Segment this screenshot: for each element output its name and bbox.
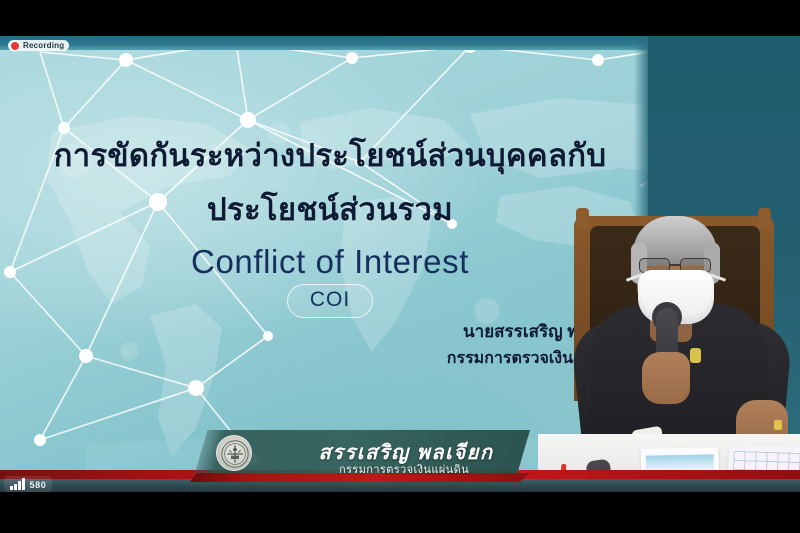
signal-bars-icon — [10, 478, 25, 490]
lapel-pin — [690, 348, 701, 363]
record-dot-icon — [11, 42, 19, 50]
finger-ring — [774, 420, 782, 430]
presenter-video-overlay — [538, 36, 800, 492]
video-stage: การขัดกันระหว่างประโยชน์ส่วนบุคคลกับ ประ… — [0, 0, 800, 533]
letterbox-top — [0, 0, 800, 36]
recording-label: Recording — [23, 41, 64, 50]
lower-third-banner: สรรเสริญ พลเจียก กรรมการตรวจเงินแผ่นดิน — [194, 430, 534, 492]
official-seal-icon — [216, 435, 252, 471]
slide-speaker-role: กรรมการตรวจเงินแผ่นดิน — [0, 346, 625, 372]
signal-strength-indicator: 580 — [4, 476, 52, 492]
chair-knob-right — [758, 208, 771, 230]
hand-holding-microphone — [642, 352, 690, 404]
slide-abbreviation-pill: COI — [287, 284, 373, 318]
chair-knob-left — [576, 208, 589, 230]
signal-label: 580 — [30, 480, 47, 490]
lower-third-role: กรรมการตรวจเงินแผ่นดิน — [300, 460, 508, 478]
letterbox-bottom — [0, 492, 800, 533]
recording-indicator: Recording — [8, 40, 69, 51]
slide-speaker-block: นายสรรเสริญ พลเจียก กรรมการตรวจเงินแผ่นด… — [0, 318, 625, 372]
